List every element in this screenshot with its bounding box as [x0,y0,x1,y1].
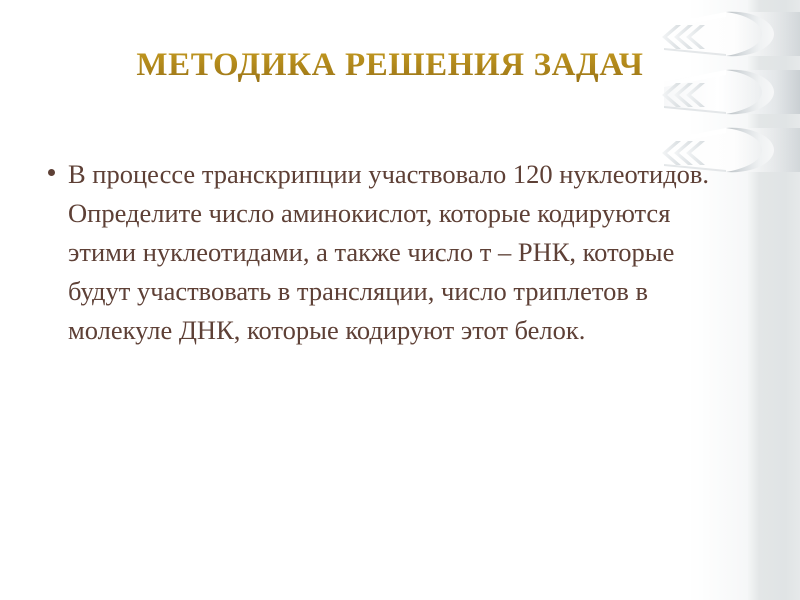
presentation-slide: МЕТОДИКА РЕШЕНИЯ ЗАДАЧ В процессе транск… [0,0,800,600]
chevron-left-icon-group-1 [662,25,705,49]
slide-title: МЕТОДИКА РЕШЕНИЯ ЗАДАЧ [40,47,740,83]
chevron-left-icon-group-2 [662,83,705,107]
spiral-ribbon-decoration [650,0,800,179]
list-item: В процессе транскрипции участвовало 120 … [44,155,734,350]
list-item-text: В процессе транскрипции участвовало 120 … [68,155,734,350]
slide-body: В процессе транскрипции участвовало 120 … [44,155,734,350]
bullet-dot-icon [48,169,55,176]
right-edge-gray-band [748,0,800,600]
